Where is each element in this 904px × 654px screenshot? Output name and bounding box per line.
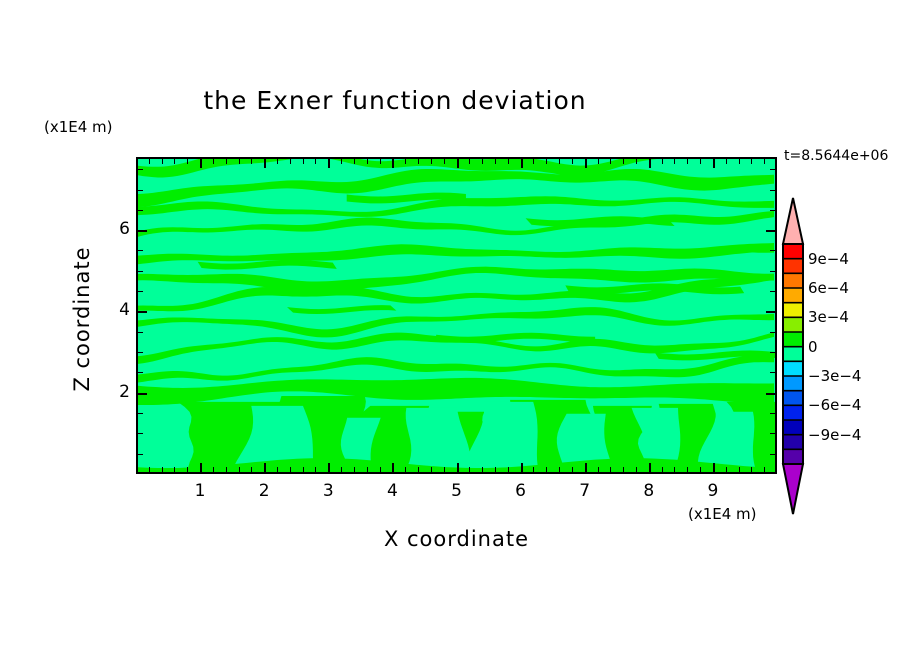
colorbar-band <box>783 303 803 318</box>
tick-x-minor-top <box>636 159 637 164</box>
tick-x-minor-top <box>739 159 740 164</box>
page-title: the Exner function deviation <box>0 86 790 115</box>
tick-x-minor-top <box>598 159 599 164</box>
tick-x-minor-top <box>431 159 432 164</box>
tick-y-minor-right <box>770 291 775 292</box>
tick-x-minor <box>726 467 727 472</box>
tick-x-minor <box>559 467 560 472</box>
x-axis-unit-label: (x1E4 m) <box>688 505 757 523</box>
tick-y-minor-right <box>770 190 775 191</box>
tick-y-major-right <box>766 393 775 395</box>
tick-x-minor <box>444 467 445 472</box>
y-tick-label: 6 <box>100 219 130 239</box>
tick-x-minor <box>290 467 291 472</box>
tick-x-minor-top <box>380 159 381 164</box>
tick-x-minor-top <box>315 159 316 164</box>
tick-x-major <box>200 463 202 472</box>
tick-x-minor <box>187 467 188 472</box>
colorbar-cap-min <box>783 464 803 514</box>
tick-x-minor <box>315 467 316 472</box>
tick-x-minor-top <box>149 159 150 164</box>
tick-y-minor <box>138 454 143 455</box>
tick-x-major-top <box>585 159 587 168</box>
x-tick-label: 9 <box>698 481 728 501</box>
tick-x-minor <box>354 467 355 472</box>
tick-x-minor-top <box>482 159 483 164</box>
colorbar-band <box>783 376 803 391</box>
y-tick-label: 2 <box>100 382 130 402</box>
tick-x-minor-top <box>533 159 534 164</box>
tick-x-minor <box>341 467 342 472</box>
tick-x-major-top <box>713 159 715 168</box>
y-tick-label: 4 <box>100 300 130 320</box>
tick-x-minor-top <box>239 159 240 164</box>
tick-x-major-top <box>649 159 651 168</box>
colorbar-band <box>783 420 803 435</box>
tick-x-minor-top <box>572 159 573 164</box>
tick-x-minor <box>213 467 214 472</box>
tick-x-minor-top <box>162 159 163 164</box>
tick-x-major-top <box>200 159 202 168</box>
x-tick-label: 4 <box>377 481 407 501</box>
tick-x-major <box>457 463 459 472</box>
tick-x-minor <box>418 467 419 472</box>
x-tick-label: 2 <box>249 481 279 501</box>
tick-x-minor <box>380 467 381 472</box>
tick-y-minor-right <box>770 169 775 170</box>
tick-y-major <box>138 311 147 313</box>
tick-x-minor-top <box>405 159 406 164</box>
colorbar-band <box>783 317 803 332</box>
tick-y-minor-right <box>770 372 775 373</box>
tick-x-minor <box>303 467 304 472</box>
colorbar-tick-labels: 9e−46e−43e−40−3e−4−6e−4−9e−4 <box>808 196 904 516</box>
tick-x-minor-top <box>418 159 419 164</box>
tick-x-minor <box>251 467 252 472</box>
tick-x-major-top <box>328 159 330 168</box>
tick-x-minor <box>546 467 547 472</box>
tick-x-minor-top <box>303 159 304 164</box>
tick-x-minor <box>469 467 470 472</box>
tick-x-major-top <box>521 159 523 168</box>
x-tick-label: 3 <box>313 481 343 501</box>
tick-x-minor-top <box>610 159 611 164</box>
tick-x-minor-top <box>726 159 727 164</box>
tick-x-minor <box>623 467 624 472</box>
tick-x-minor <box>174 467 175 472</box>
tick-x-minor <box>751 467 752 472</box>
tick-y-major-right <box>766 230 775 232</box>
colorbar-tick-label: −9e−4 <box>808 426 861 444</box>
colorbar-band <box>783 361 803 376</box>
tick-x-major <box>392 463 394 472</box>
tick-x-minor-top <box>687 159 688 164</box>
tick-y-minor-right <box>770 454 775 455</box>
tick-x-minor-top <box>546 159 547 164</box>
tick-x-minor-top <box>174 159 175 164</box>
y-axis-unit-label: (x1E4 m) <box>44 118 113 136</box>
tick-x-major <box>713 463 715 472</box>
contour-field <box>138 159 775 472</box>
tick-y-minor <box>138 271 143 272</box>
tick-y-minor-right <box>770 210 775 211</box>
tick-x-minor <box>431 467 432 472</box>
tick-x-minor-top <box>623 159 624 164</box>
colorbar <box>780 196 806 516</box>
tick-y-minor <box>138 433 143 434</box>
tick-x-minor <box>700 467 701 472</box>
tick-x-minor <box>674 467 675 472</box>
x-tick-label: 1 <box>185 481 215 501</box>
tick-x-minor <box>572 467 573 472</box>
tick-x-minor <box>367 467 368 472</box>
tick-x-minor-top <box>187 159 188 164</box>
tick-x-minor <box>239 467 240 472</box>
tick-x-minor <box>405 467 406 472</box>
tick-x-major-top <box>264 159 266 168</box>
tick-x-minor-top <box>341 159 342 164</box>
tick-x-minor <box>610 467 611 472</box>
tick-y-minor <box>138 352 143 353</box>
tick-x-minor <box>149 467 150 472</box>
tick-x-major <box>585 463 587 472</box>
tick-x-minor <box>598 467 599 472</box>
y-axis-title: Z coordinate <box>70 209 94 429</box>
tick-x-major-top <box>457 159 459 168</box>
tick-y-minor-right <box>770 271 775 272</box>
colorbar-tick-label: 0 <box>808 338 818 356</box>
tick-x-minor-top <box>213 159 214 164</box>
colorbar-band <box>783 288 803 303</box>
tick-x-minor <box>277 467 278 472</box>
tick-x-minor-top <box>495 159 496 164</box>
tick-x-minor <box>495 467 496 472</box>
tick-x-minor <box>764 467 765 472</box>
tick-x-major <box>328 463 330 472</box>
colorbar-band <box>783 259 803 274</box>
tick-x-minor <box>662 467 663 472</box>
tick-y-minor <box>138 413 143 414</box>
tick-y-minor-right <box>770 352 775 353</box>
x-tick-label: 8 <box>634 481 664 501</box>
tick-y-minor <box>138 291 143 292</box>
x-tick-label: 6 <box>506 481 536 501</box>
colorbar-band <box>783 449 803 464</box>
tick-y-major-right <box>766 311 775 313</box>
tick-x-minor <box>533 467 534 472</box>
tick-x-minor-top <box>444 159 445 164</box>
colorbar-band <box>783 405 803 420</box>
tick-x-minor-top <box>662 159 663 164</box>
tick-y-minor-right <box>770 250 775 251</box>
tick-x-minor <box>739 467 740 472</box>
tick-x-major <box>264 463 266 472</box>
tick-x-minor-top <box>226 159 227 164</box>
x-tick-label: 5 <box>442 481 472 501</box>
tick-x-minor-top <box>674 159 675 164</box>
colorbar-band <box>783 332 803 347</box>
colorbar-band <box>783 273 803 288</box>
colorbar-band <box>783 244 803 259</box>
tick-x-minor-top <box>354 159 355 164</box>
tick-x-major-top <box>392 159 394 168</box>
tick-y-minor-right <box>770 433 775 434</box>
tick-x-major <box>649 463 651 472</box>
tick-y-minor <box>138 169 143 170</box>
tick-x-minor <box>687 467 688 472</box>
tick-x-minor <box>226 467 227 472</box>
colorbar-tick-label: −3e−4 <box>808 367 861 385</box>
tick-x-minor-top <box>508 159 509 164</box>
contour-plot-area <box>136 157 777 474</box>
tick-x-minor-top <box>277 159 278 164</box>
tick-y-minor <box>138 210 143 211</box>
tick-x-minor <box>162 467 163 472</box>
colorbar-tick-label: 6e−4 <box>808 279 849 297</box>
tick-y-minor-right <box>770 413 775 414</box>
colorbar-band <box>783 391 803 406</box>
tick-x-minor-top <box>290 159 291 164</box>
tick-x-minor-top <box>751 159 752 164</box>
x-axis-title: X coordinate <box>136 527 777 551</box>
tick-x-minor-top <box>559 159 560 164</box>
tick-y-major <box>138 393 147 395</box>
tick-x-minor <box>508 467 509 472</box>
tick-x-major <box>521 463 523 472</box>
colorbar-cap-max <box>783 198 803 244</box>
timestamp-annotation: t=8.5644e+06 <box>784 148 888 164</box>
tick-x-minor-top <box>367 159 368 164</box>
colorbar-tick-label: −6e−4 <box>808 396 861 414</box>
tick-y-minor <box>138 250 143 251</box>
tick-x-minor-top <box>251 159 252 164</box>
colorbar-tick-label: 3e−4 <box>808 308 849 326</box>
figure-canvas: the Exner function deviation (x1E4 m) (x… <box>0 0 904 654</box>
colorbar-band <box>783 347 803 362</box>
tick-x-minor-top <box>469 159 470 164</box>
x-tick-label: 7 <box>570 481 600 501</box>
tick-y-minor <box>138 372 143 373</box>
tick-y-minor <box>138 190 143 191</box>
tick-x-minor <box>482 467 483 472</box>
colorbar-band <box>783 435 803 450</box>
tick-x-minor <box>636 467 637 472</box>
tick-x-minor-top <box>700 159 701 164</box>
tick-y-minor <box>138 332 143 333</box>
tick-y-minor-right <box>770 332 775 333</box>
tick-y-major <box>138 230 147 232</box>
colorbar-tick-label: 9e−4 <box>808 250 849 268</box>
tick-x-minor-top <box>764 159 765 164</box>
